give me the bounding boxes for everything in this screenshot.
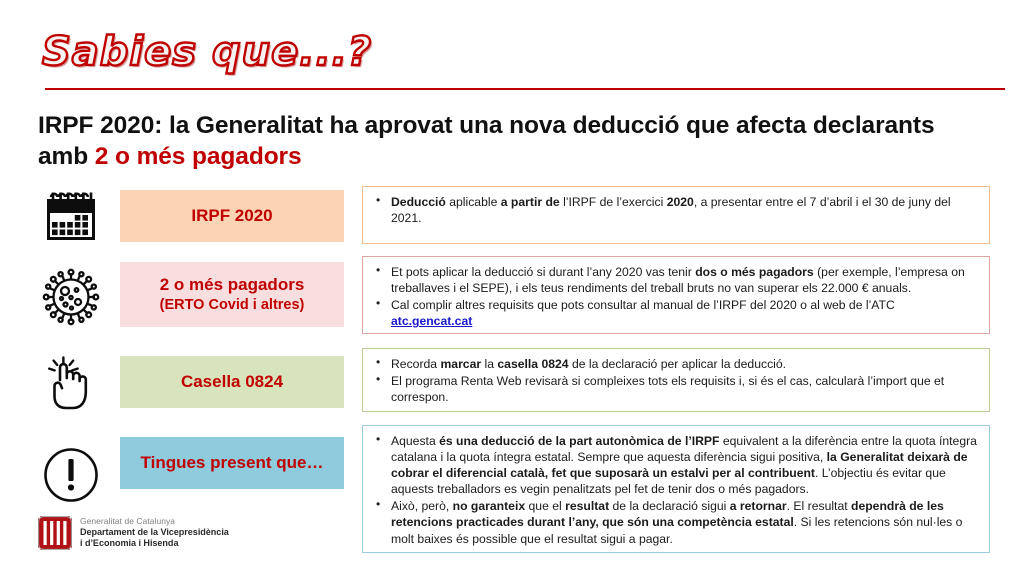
- bullet-text-1: aplicable: [446, 195, 501, 209]
- bullet-text-0: El programa Renta Web revisarà si comple…: [391, 374, 944, 404]
- bullet-bold-1: dos o més pagadors: [695, 265, 814, 279]
- label-irpf-2020: IRPF 2020: [120, 190, 344, 242]
- bullet-bold-1: marcar: [440, 357, 481, 371]
- list-item: Deducció aplicable a partir de l’IRPF de…: [389, 194, 979, 226]
- bullet-bold-1: és una deducció de la part autonòmica de…: [439, 434, 719, 448]
- row-casella-0824: Casella 0824 Recorda marcar la casella 0…: [0, 348, 1024, 420]
- content-box-tingues-present: Aquesta és una deducció de la part auton…: [362, 425, 990, 553]
- list-item: Aquesta és una deducció de la part auton…: [389, 433, 979, 497]
- bullet-text-4: de la declaració per aplicar la deducció…: [569, 357, 786, 371]
- bullet-text-0: Cal complir altres requisits que pots co…: [391, 298, 895, 312]
- row-dos-o-mes-pagadors: 2 o més pagadors (ERTO Covid i altres) E…: [0, 256, 1024, 338]
- list-item: Et pots aplicar la deducció si durant l’…: [389, 264, 979, 296]
- bullet-text-0: Això, però,: [391, 499, 453, 513]
- page-title: IRPF 2020: la Generalitat ha aprovat una…: [38, 110, 998, 173]
- header: Sabies que...?: [0, 0, 1024, 96]
- page-title-line1: IRPF 2020: la Generalitat ha aprovat una…: [38, 112, 934, 139]
- bullet-text-0: Aquesta: [391, 434, 439, 448]
- exclamation-circle-icon: [32, 425, 110, 525]
- bullet-bold-5: a retornar: [730, 499, 787, 513]
- bullet-text-4: de la declaració sigui: [609, 499, 730, 513]
- bullet-text-0: Recorda: [391, 357, 440, 371]
- label-main-text: Casella 0824: [181, 372, 283, 392]
- title-divider: [45, 88, 1005, 90]
- deck-title: Sabies que...?: [42, 32, 372, 72]
- bullet-bold-3: casella 0824: [497, 357, 568, 371]
- footer-org-name: Generalitat de Catalunya: [80, 517, 229, 527]
- footer-dept-line2: i d’Economia i Hisenda: [80, 538, 229, 549]
- click-hand-icon: [32, 348, 110, 420]
- catalan-flag-shield-icon: [38, 516, 72, 550]
- content-box-dos-o-mes-pagadors: Et pots aplicar la deducció si durant l’…: [362, 256, 990, 334]
- footer-dept-line1: Departament de la Vicepresidència: [80, 527, 229, 538]
- bullet-bold-4: 2020: [667, 195, 694, 209]
- label-main-text: Tingues present que…: [141, 453, 324, 473]
- page-title-highlight: 2 o més pagadors: [95, 143, 302, 170]
- label-main-text: IRPF 2020: [191, 206, 272, 226]
- bullet-bold-0: Deducció: [391, 195, 446, 209]
- bullet-bold-3: resultat: [565, 499, 609, 513]
- list-item: Recorda marcar la casella 0824 de la dec…: [389, 356, 979, 372]
- content-box-irpf-2020: Deducció aplicable a partir de l’IRPF de…: [362, 186, 990, 244]
- label-casella-0824: Casella 0824: [120, 356, 344, 408]
- footer-logo-text: Generalitat de Catalunya Departament de …: [80, 517, 229, 548]
- footer-logo: Generalitat de Catalunya Departament de …: [38, 516, 229, 550]
- atc-gencat-link[interactable]: atc.gencat.cat: [391, 314, 472, 328]
- virus-icon: [32, 256, 110, 338]
- label-tingues-present: Tingues present que…: [120, 437, 344, 489]
- label-main-text: 2 o més pagadors: [160, 275, 305, 295]
- bullet-bold-2: a partir de: [501, 195, 560, 209]
- row-irpf-2020: IRPF 2020 Deducció aplicable a partir de…: [0, 186, 1024, 248]
- bullet-text-2: que el: [525, 499, 565, 513]
- calendar-icon: [32, 186, 110, 248]
- list-item: El programa Renta Web revisarà si comple…: [389, 373, 979, 405]
- bullet-text-0: Et pots aplicar la deducció si durant l’…: [391, 265, 695, 279]
- page-title-line2-prefix: amb: [38, 143, 95, 170]
- list-item: Això, però, no garanteix que el resultat…: [389, 498, 979, 546]
- label-dos-o-mes-pagadors: 2 o més pagadors (ERTO Covid i altres): [120, 262, 344, 327]
- bullet-text-6: . El resultat: [787, 499, 851, 513]
- bullet-text-3: l’IRPF de l’exercici: [560, 195, 667, 209]
- bullet-text-2: la: [481, 357, 497, 371]
- list-item: Cal complir altres requisits que pots co…: [389, 297, 979, 329]
- bullet-bold-1: no garanteix: [453, 499, 525, 513]
- content-box-casella-0824: Recorda marcar la casella 0824 de la dec…: [362, 348, 990, 412]
- label-sub-text: (ERTO Covid i altres): [160, 296, 305, 314]
